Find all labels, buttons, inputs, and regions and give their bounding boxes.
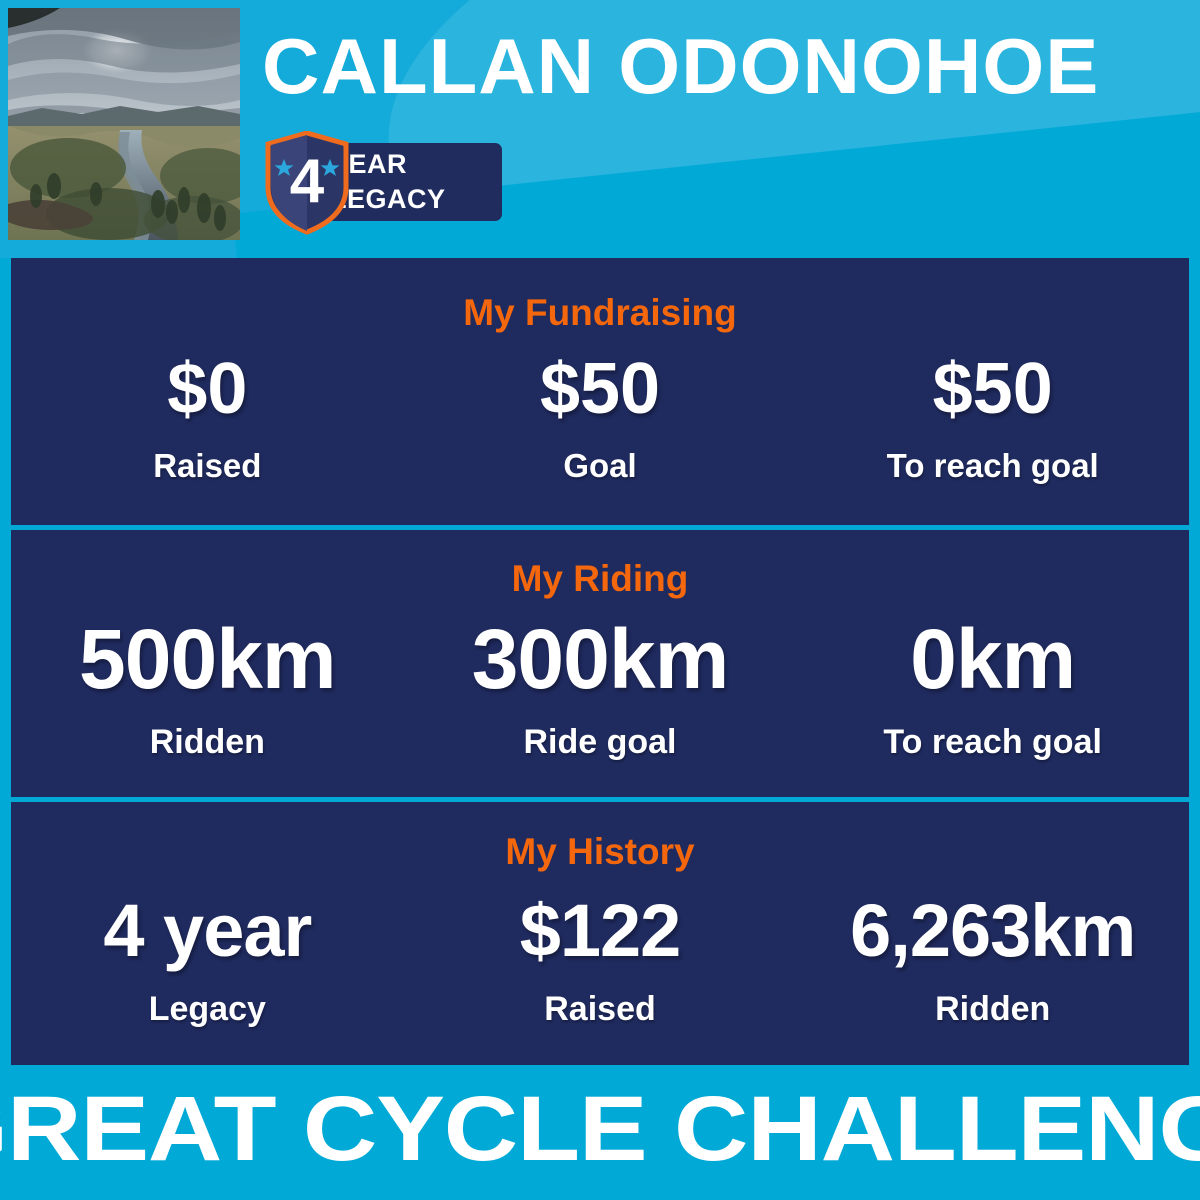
section-my-fundraising: My Fundraising $0 Raised $50 Goal $50 To… (11, 258, 1189, 525)
section-title: My History (11, 802, 1189, 874)
poster-footer: GREAT CYCLE CHALLENGE (0, 1065, 1200, 1200)
page-title: CALLAN ODONOHOE (262, 16, 1200, 116)
shield-icon: 4 (264, 131, 350, 235)
stat-value: $122 (404, 894, 797, 968)
stat-ride-goal: 300km Ride goal (404, 617, 797, 762)
section-title: My Riding (11, 530, 1189, 601)
stats-panel: My Fundraising $0 Raised $50 Goal $50 To… (11, 258, 1189, 1065)
stat-label: Raised (404, 990, 797, 1029)
section-my-history: My History 4 year Legacy $122 Raised 6,2… (11, 797, 1189, 1060)
legacy-badge: YEAR LEGACY 4 (264, 131, 504, 235)
brand-wordmark: GREAT CYCLE CHALLENGE (0, 1077, 1200, 1181)
stat-to-reach-ride-goal: 0km To reach goal (796, 617, 1189, 762)
avatar (8, 8, 240, 240)
stat-label: To reach goal (796, 723, 1189, 762)
stat-value: 6,263km (796, 894, 1189, 968)
legacy-badge-number: 4 (264, 147, 350, 217)
legacy-badge-line2: LEGACY (330, 182, 500, 217)
stat-raised: $0 Raised (11, 353, 404, 485)
stat-value: 300km (404, 617, 797, 701)
stat-label: Raised (11, 447, 404, 485)
stat-label: Goal (404, 447, 797, 485)
stat-legacy: 4 year Legacy (11, 894, 404, 1029)
stat-label: To reach goal (796, 447, 1189, 485)
stat-to-reach-goal: $50 To reach goal (796, 353, 1189, 485)
legacy-badge-line1: YEAR (330, 147, 500, 182)
stat-row: 500km Ridden 300km Ride goal 0km To reac… (11, 601, 1189, 762)
stat-label: Ridden (11, 723, 404, 762)
stat-value: $50 (404, 353, 797, 425)
legacy-badge-text: YEAR LEGACY (330, 147, 500, 219)
stat-label: Ride goal (404, 723, 797, 762)
stat-lifetime-raised: $122 Raised (404, 894, 797, 1029)
stat-value: 0km (796, 617, 1189, 701)
stat-label: Legacy (11, 990, 404, 1029)
stat-value: $50 (796, 353, 1189, 425)
stat-lifetime-ridden: 6,263km Ridden (796, 894, 1189, 1029)
stat-value: 4 year (11, 894, 404, 968)
stat-label: Ridden (796, 990, 1189, 1029)
stat-goal: $50 Goal (404, 353, 797, 485)
section-title: My Fundraising (11, 258, 1189, 335)
poster-header: CALLAN ODONOHOE YEAR LEGACY 4 (0, 0, 1200, 258)
fundraiser-stats-poster: CALLAN ODONOHOE YEAR LEGACY 4 (0, 0, 1200, 1200)
stat-value: $0 (11, 353, 404, 425)
stat-row: $0 Raised $50 Goal $50 To reach goal (11, 335, 1189, 485)
section-my-riding: My Riding 500km Ridden 300km Ride goal 0… (11, 525, 1189, 797)
stat-value: 500km (11, 617, 404, 701)
stat-ridden: 500km Ridden (11, 617, 404, 762)
rider-photo-river-valley-icon (8, 8, 240, 240)
stat-row: 4 year Legacy $122 Raised 6,263km Ridden (11, 874, 1189, 1029)
